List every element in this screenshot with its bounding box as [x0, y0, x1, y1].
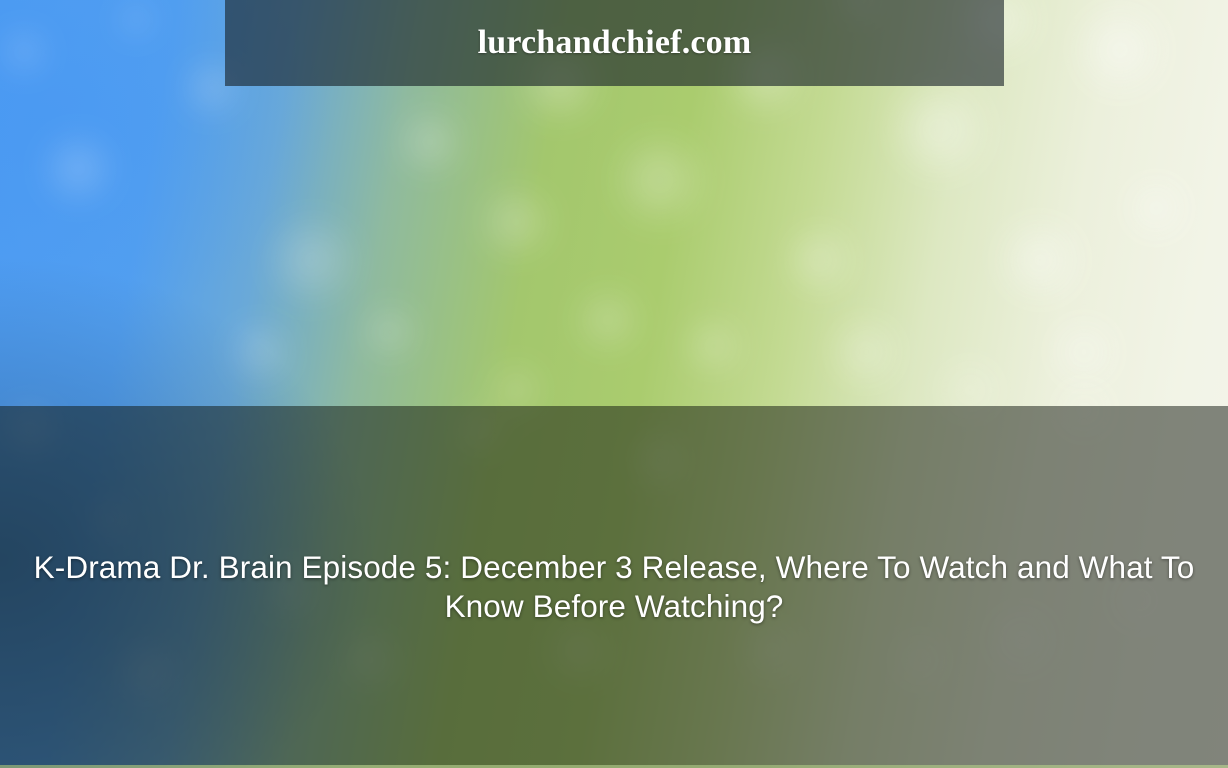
site-watermark-label: lurchandchief.com — [478, 26, 752, 60]
site-watermark-bar: lurchandchief.com — [225, 0, 1004, 86]
featured-image-card: lurchandchief.com K-Drama Dr. Brain Epis… — [0, 0, 1228, 768]
page-title: K-Drama Dr. Brain Episode 5: December 3 … — [0, 548, 1228, 626]
